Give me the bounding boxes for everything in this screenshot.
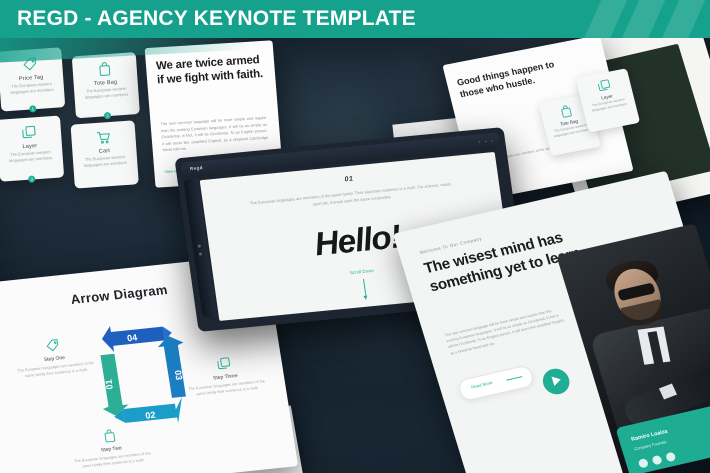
social-icons [638,452,677,469]
layer-icon [215,356,232,372]
feature-card-badge: 1 [29,105,36,112]
poster-stage: REGD - AGENCY KEYNOTE TEMPLATE Price Tag… [0,0,710,473]
arrow-step-two: Step Two The European languages are memb… [66,424,156,470]
feature-card-tote-bag[interactable]: Tote Bag The European western languages … [72,52,140,118]
tote-bag-icon [101,428,118,444]
arrow-right-icon [506,376,522,381]
tote-bag-icon [96,61,113,78]
svg-text:04: 04 [126,332,138,343]
facebook-icon[interactable] [638,458,649,469]
wisest-body: The new common language will be more sim… [444,306,568,357]
quote-heading: We are twice armed if we fight with fait… [156,53,266,88]
read-more-label: Read More [470,380,493,390]
hustle-heading: Good things happen to those who hustle. [456,54,580,100]
feature-card-badge: 3 [28,175,35,182]
read-more-button[interactable]: Read More [457,364,536,402]
layer-icon [596,78,613,94]
page-title: REGD - AGENCY KEYNOTE TEMPLATE [17,7,416,31]
feature-card-badge: 2 [104,112,111,119]
layer-icon [20,124,37,141]
tote-bag-icon [558,103,575,119]
feature-card-layer[interactable]: Layer The European western languages are… [0,115,64,181]
svg-text:01: 01 [103,379,115,390]
arrow-step-three: Step Three The European languages are me… [180,352,270,398]
feature-card-cart[interactable]: Cart The European western languages are … [71,120,139,188]
arrow-segment-04: 04 [100,320,174,353]
portrait-photo: Ramiro Loaiza Company Founder [556,224,710,473]
quote-body: The new common language will be more sim… [160,115,268,154]
title-banner: REGD - AGENCY KEYNOTE TEMPLATE [0,0,710,38]
play-icon[interactable] [540,366,573,397]
cart-icon [95,129,112,146]
arrow-down-icon [363,279,367,297]
instagram-icon[interactable] [665,452,676,463]
price-tag-icon [44,338,61,354]
svg-text:02: 02 [145,410,157,421]
arrow-segment-01: 01 [94,353,130,417]
twitter-icon[interactable] [651,455,662,466]
